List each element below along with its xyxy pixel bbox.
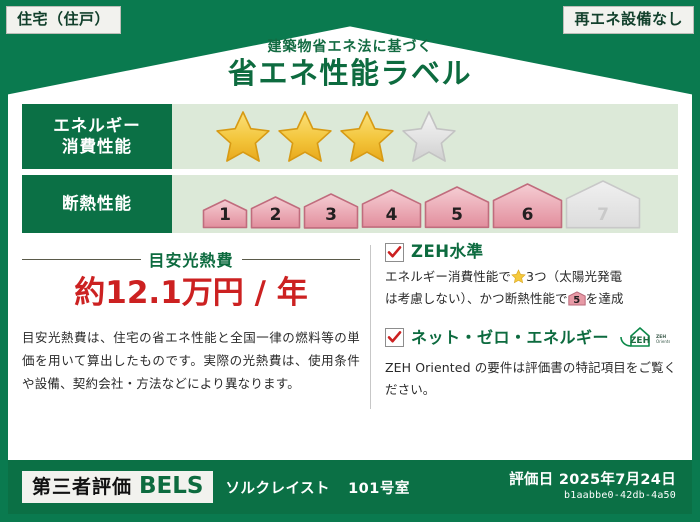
zeh-netzero-block: ネット・ゼロ・エネルギー ZEH ZEH Oriented ZEH Orient…	[385, 323, 678, 402]
inline-house-level: 5	[568, 296, 586, 306]
svg-text:Oriented: Oriented	[656, 339, 670, 344]
insulation-performance-label: 断熱性能	[22, 175, 172, 233]
label-content-card: エネルギー 消費性能 断熱性能 1234567 目安光熱費	[22, 104, 678, 460]
house-level-number: 1	[202, 207, 248, 224]
house-level-marker: 4	[361, 189, 422, 229]
checkbox-checked-icon	[385, 243, 404, 262]
house-level-number: 2	[250, 207, 301, 224]
cost-note: 目安光熱費は、住宅の省エネ性能と全国一律の燃料等の単価を用いて算出したものです。…	[22, 326, 360, 395]
energy-performance-label: 住宅（住戸） 再エネ設備なし 建築物省エネ法に基づく 省エネ性能ラベル エネルギ…	[0, 0, 700, 522]
star-filled-icon	[338, 109, 396, 165]
checkbox-checked-icon-2	[385, 328, 404, 347]
star-empty-icon	[400, 109, 458, 165]
house-level-number: 5	[424, 207, 490, 224]
house-level-marker: 1	[202, 199, 248, 229]
title-subtitle: 建築物省エネ法に基づく	[0, 40, 700, 55]
house-level-marker: 5	[424, 186, 490, 229]
lower-columns: 目安光熱費 約12.1万円 / 年 目安光熱費は、住宅の省エネ性能と全国一律の燃…	[22, 243, 678, 411]
inline-house-icon: 5	[568, 291, 586, 306]
zeh-desc-part2: は考慮しない）、かつ断熱性能で	[385, 291, 568, 306]
badge-renewable-equipment: 再エネ設備なし	[563, 6, 694, 34]
house-level-marker: 3	[303, 193, 359, 229]
zeh-standard-heading: ZEH水準	[385, 243, 678, 262]
house-level-marker: 2	[250, 196, 301, 229]
row-insulation-performance: 断熱性能 1234567	[22, 175, 678, 233]
inline-star-icon	[511, 269, 526, 284]
zeh-netzero-heading: ネット・ゼロ・エネルギー ZEH ZEH Oriented	[385, 323, 678, 353]
star-filled-icon	[214, 109, 272, 165]
energy-performance-body	[172, 104, 678, 169]
insulation-performance-body: 1234567	[172, 175, 678, 233]
title-main: 省エネ性能ラベル	[0, 58, 700, 90]
house-level-number: 4	[361, 207, 422, 224]
cost-column: 目安光熱費 約12.1万円 / 年 目安光熱費は、住宅の省エネ性能と全国一律の燃…	[22, 243, 370, 411]
bels-badge: 第三者評価 BELS	[22, 471, 213, 503]
cost-heading: 目安光熱費	[149, 247, 234, 271]
insulation-label-text: 断熱性能	[62, 194, 132, 215]
label-footer: 第三者評価 BELS ソルクレイスト 101号室 評価日 2025年7月24日 …	[8, 460, 692, 514]
house-level-marker: 6	[492, 183, 563, 229]
zeh-desc-part3: を達成	[586, 291, 624, 306]
svg-text:ZEH: ZEH	[630, 336, 650, 346]
bels-en-text: BELS	[139, 475, 203, 498]
footer-meta: 評価日 2025年7月24日 b1aabbe0-42db-4a50	[509, 472, 676, 502]
evaluation-id: b1aabbe0-42db-4a50	[509, 489, 676, 502]
zeh-desc-part1: エネルギー消費性能で	[385, 269, 511, 284]
zeh-logo-icon: ZEH ZEH Oriented	[618, 323, 670, 353]
cost-value: 約12.1万円 / 年	[22, 275, 360, 312]
house-level-marker: 7	[565, 180, 641, 229]
evaluation-date: 評価日 2025年7月24日	[509, 472, 676, 489]
label-title-block: 建築物省エネ法に基づく 省エネ性能ラベル	[0, 40, 700, 90]
cost-rule-left	[22, 259, 141, 260]
house-level-number: 7	[565, 207, 641, 224]
house-level-number: 3	[303, 207, 359, 224]
house-level-number: 6	[492, 207, 563, 224]
energy-label-line2: 消費性能	[62, 137, 132, 158]
energy-label-line1: エネルギー	[53, 116, 141, 137]
cost-heading-row: 目安光熱費	[22, 247, 360, 271]
energy-performance-label: エネルギー 消費性能	[22, 104, 172, 169]
zeh-standard-block: ZEH水準 エネルギー消費性能で 3つ（太陽光発電 は考慮しない）、かつ断熱性能…	[385, 243, 678, 311]
star-filled-icon	[276, 109, 334, 165]
property-name: ソルクレイスト	[225, 477, 330, 498]
cost-rule-right	[242, 259, 361, 260]
badge-building-type: 住宅（住戸）	[6, 6, 121, 34]
zeh-desc-star-count: 3つ（太陽光発電	[526, 269, 622, 284]
house-rating-scale: 1234567	[202, 180, 641, 229]
zeh-column: ZEH水準 エネルギー消費性能で 3つ（太陽光発電 は考慮しない）、かつ断熱性能…	[371, 243, 678, 411]
zeh-netzero-description: ZEH Oriented の要件は評価書の特記項目をご覧ください。	[385, 357, 678, 402]
row-energy-performance: エネルギー 消費性能	[22, 104, 678, 169]
star-rating	[214, 109, 458, 165]
property-unit: 101号室	[348, 477, 410, 498]
zeh-netzero-title: ネット・ゼロ・エネルギー	[411, 330, 609, 346]
zeh-standard-description: エネルギー消費性能で 3つ（太陽光発電 は考慮しない）、かつ断熱性能で 5 を達…	[385, 266, 678, 311]
zeh-standard-title: ZEH水準	[411, 244, 484, 261]
bels-jp-text: 第三者評価	[32, 478, 132, 497]
